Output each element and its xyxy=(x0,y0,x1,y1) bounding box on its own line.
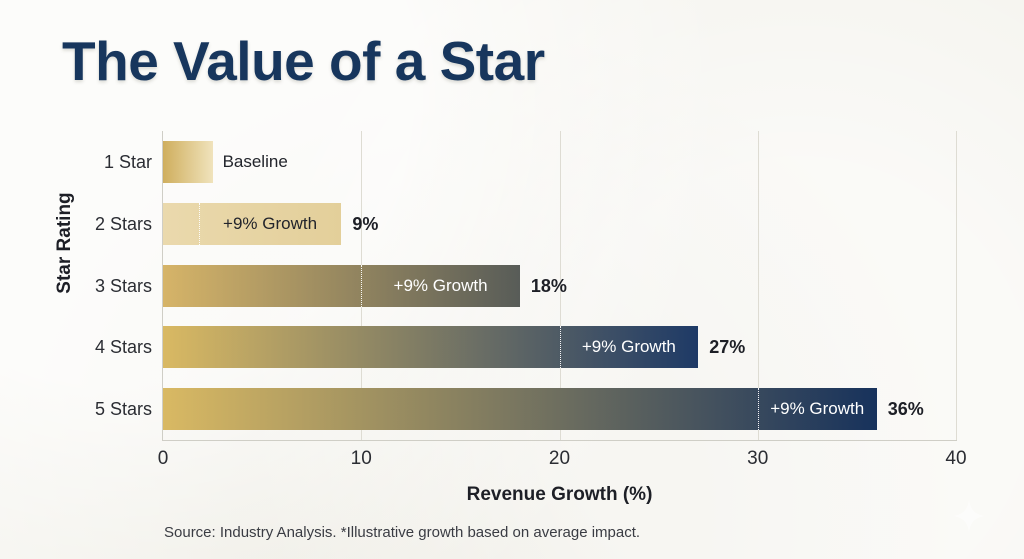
gridline xyxy=(956,131,957,440)
bar[interactable] xyxy=(163,388,877,430)
sparkle-icon xyxy=(952,499,986,533)
bar-value-label: 18% xyxy=(531,265,567,307)
bar-value-label: 36% xyxy=(888,388,924,430)
y-axis-tick: 2 Stars xyxy=(95,203,152,245)
x-axis-spine xyxy=(162,440,957,441)
bar-row[interactable]: Baseline xyxy=(163,141,956,183)
y-axis-tick: 5 Stars xyxy=(95,388,152,430)
bar-row[interactable]: +9% Growth9% xyxy=(163,203,956,245)
segment-divider xyxy=(199,203,200,245)
x-axis-tick: 30 xyxy=(747,448,768,470)
bar[interactable] xyxy=(163,141,213,183)
source-note: Source: Industry Analysis. *Illustrative… xyxy=(164,524,640,541)
bar-segment-label: Baseline xyxy=(223,141,288,183)
bar-value-label: 27% xyxy=(709,326,745,368)
segment-divider xyxy=(560,326,561,368)
segment-divider xyxy=(758,388,759,430)
x-axis-tick: 20 xyxy=(549,448,570,470)
y-axis-tick: 4 Stars xyxy=(95,326,152,368)
bar-chart: 1 Star2 Stars3 Stars4 Stars5 Stars Star … xyxy=(0,0,1024,559)
bar-row[interactable]: +9% Growth27% xyxy=(163,326,956,368)
bar[interactable] xyxy=(163,203,341,245)
plot-area: Baseline+9% Growth9%+9% Growth18%+9% Gro… xyxy=(163,131,956,440)
slide-canvas: The Value of a Star 1 Star2 Stars3 Stars… xyxy=(0,0,1024,559)
segment-divider xyxy=(361,265,362,307)
bar[interactable] xyxy=(163,265,520,307)
y-axis-tick-labels: 1 Star2 Stars3 Stars4 Stars5 Stars xyxy=(0,131,152,440)
x-axis-label: Revenue Growth (%) xyxy=(163,484,956,506)
x-axis-tick: 0 xyxy=(158,448,169,470)
bar-row[interactable]: +9% Growth36% xyxy=(163,388,956,430)
bar-row[interactable]: +9% Growth18% xyxy=(163,265,956,307)
x-axis-tick: 10 xyxy=(351,448,372,470)
y-axis-label: Star Rating xyxy=(54,163,76,323)
y-axis-tick: 3 Stars xyxy=(95,265,152,307)
y-axis-tick: 1 Star xyxy=(104,141,152,183)
x-axis-tick: 40 xyxy=(945,448,966,470)
bar-value-label: 9% xyxy=(352,203,378,245)
bar[interactable] xyxy=(163,326,698,368)
